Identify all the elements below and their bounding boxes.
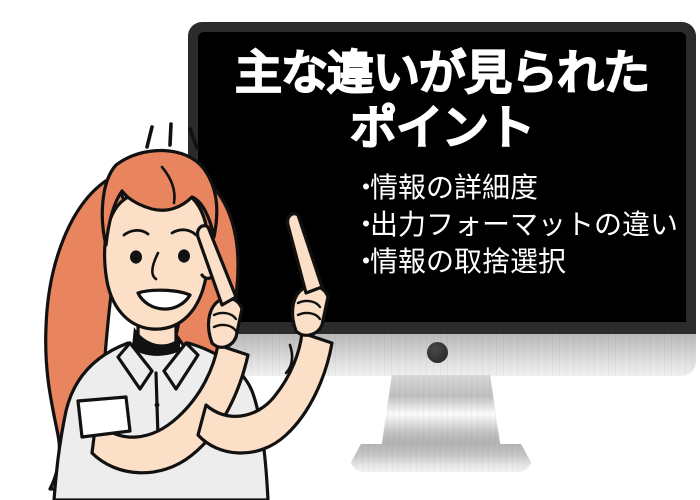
list-item: ・出力フォーマットの違い — [352, 206, 678, 243]
slide-canvas: 主な違いが見られた ポイント ・情報の詳細度 ・出力フォーマットの違い ・情報の… — [0, 0, 700, 500]
monitor-stand-base — [350, 444, 532, 472]
emphasis-lines-icon — [147, 124, 197, 148]
list-item-label: 情報の詳細度 — [370, 171, 538, 204]
monitor-stand-neck — [381, 375, 501, 450]
monitor-power-button[interactable] — [427, 342, 448, 363]
list-item-label: 情報の取捨選択 — [370, 245, 566, 278]
slide-title-line-1: 主な違いが見られた — [235, 46, 649, 101]
list-item-label: 出力フォーマットの違い — [370, 208, 678, 241]
eye — [130, 250, 142, 263]
eye — [178, 249, 190, 262]
list-item: ・情報の取捨選択 — [352, 243, 678, 280]
pointing-woman-illustration — [0, 105, 360, 500]
list-item: ・情報の詳細度 — [352, 169, 678, 206]
